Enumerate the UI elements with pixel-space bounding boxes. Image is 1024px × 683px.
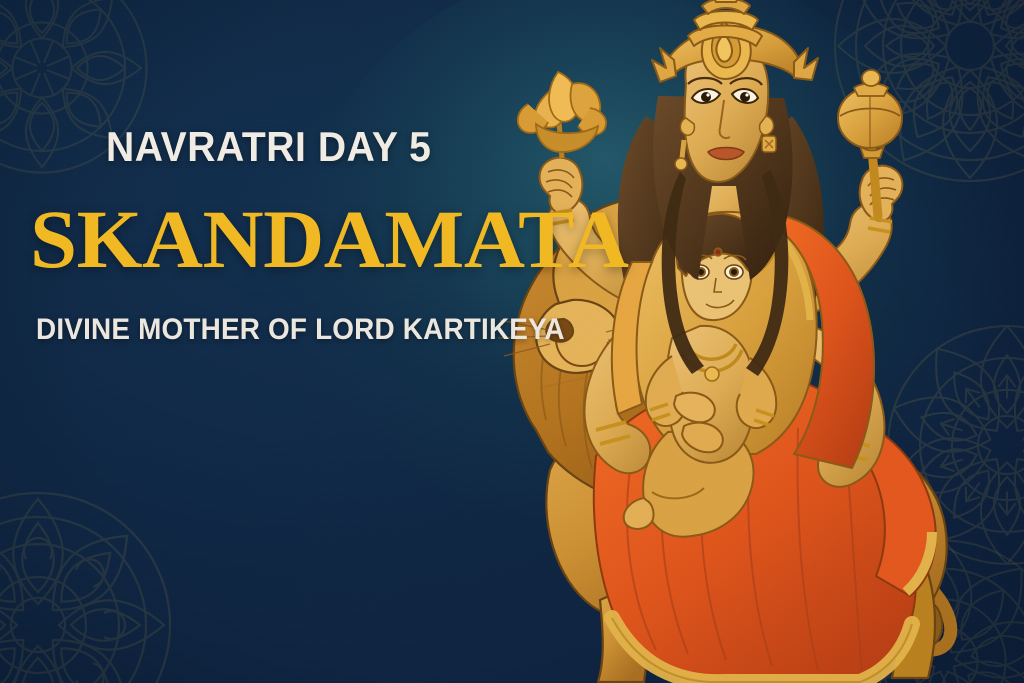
kicker-text: NAVRATRI DAY 5 bbox=[106, 126, 431, 168]
goddess-lips bbox=[708, 148, 744, 160]
child-bindi bbox=[714, 248, 721, 255]
text-block: NAVRATRI DAY 5 SKANDAMATA DIVINE MOTHER … bbox=[0, 0, 600, 683]
subtitle-text: DIVINE MOTHER OF LORD KARTIKEYA bbox=[36, 315, 565, 345]
navratri-poster: NAVRATRI DAY 5 SKANDAMATA DIVINE MOTHER … bbox=[0, 0, 1024, 683]
page-title: SKANDAMATA bbox=[30, 198, 628, 281]
